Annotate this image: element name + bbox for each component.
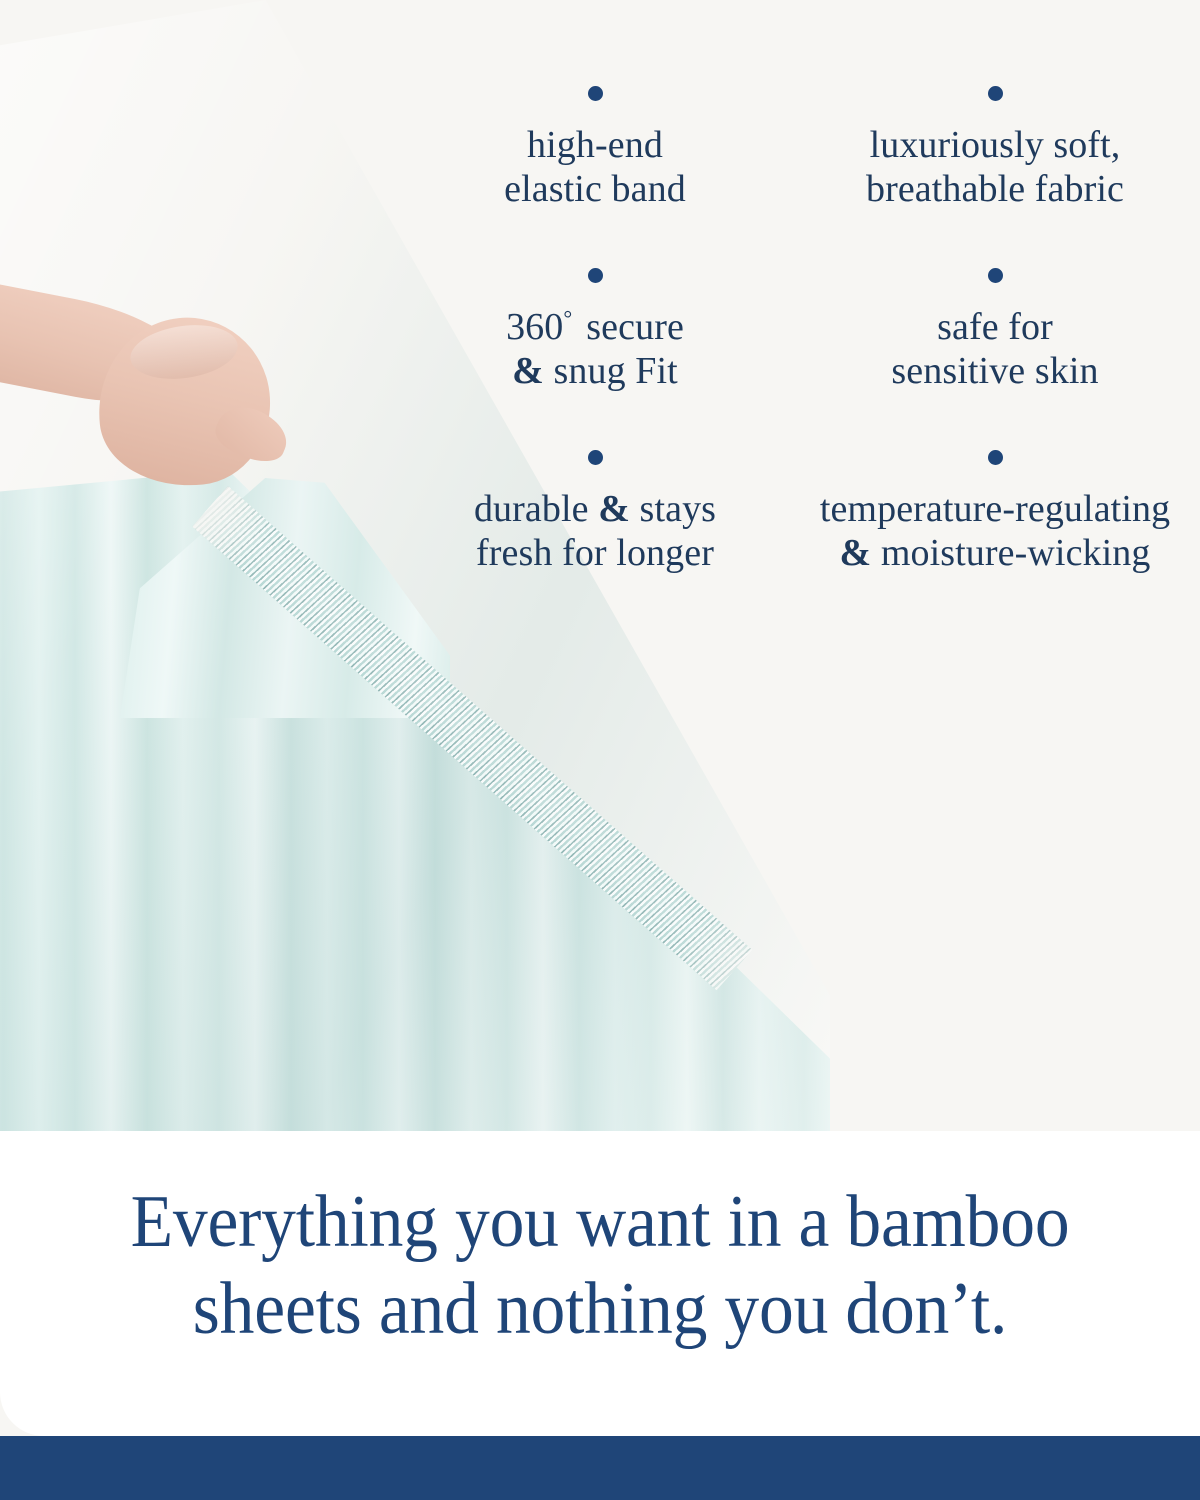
promo-banner: high-end elastic band luxuriously soft, … — [0, 0, 1200, 1500]
feature-soft-fabric-label: luxuriously soft, breathable fabric — [866, 123, 1124, 212]
bottom-accent-bar — [0, 1436, 1200, 1500]
feature-list: high-end elastic band luxuriously soft, … — [400, 86, 1190, 576]
feature-durable: durable & stays fresh for longer — [400, 450, 790, 576]
feature-sensitive-skin-label: safe for sensitive skin — [891, 305, 1098, 394]
bullet-dot-icon — [988, 268, 1003, 283]
feature-temperature-regulating: temperature-regulating & moisture-wickin… — [800, 450, 1190, 576]
bullet-dot-icon — [588, 86, 603, 101]
feature-soft-fabric: luxuriously soft, breathable fabric — [800, 86, 1190, 212]
bullet-dot-icon — [988, 450, 1003, 465]
feature-sensitive-skin: safe for sensitive skin — [800, 268, 1190, 394]
bullet-dot-icon — [588, 268, 603, 283]
feature-temperature-regulating-label: temperature-regulating & moisture-wickin… — [820, 487, 1170, 576]
headline-text: Everything you want in a bamboo sheets a… — [36, 1179, 1164, 1354]
feature-durable-label: durable & stays fresh for longer — [474, 487, 716, 576]
bullet-dot-icon — [588, 450, 603, 465]
feature-elastic-band: high-end elastic band — [400, 86, 790, 212]
feature-snug-fit-label: 360°secure & snug Fit — [506, 305, 684, 394]
bullet-dot-icon — [988, 86, 1003, 101]
feature-snug-fit: 360°secure & snug Fit — [400, 268, 790, 394]
hand-illustration — [0, 290, 310, 530]
feature-elastic-band-label: high-end elastic band — [504, 123, 686, 212]
headline-card: Everything you want in a bamboo sheets a… — [0, 1131, 1200, 1436]
